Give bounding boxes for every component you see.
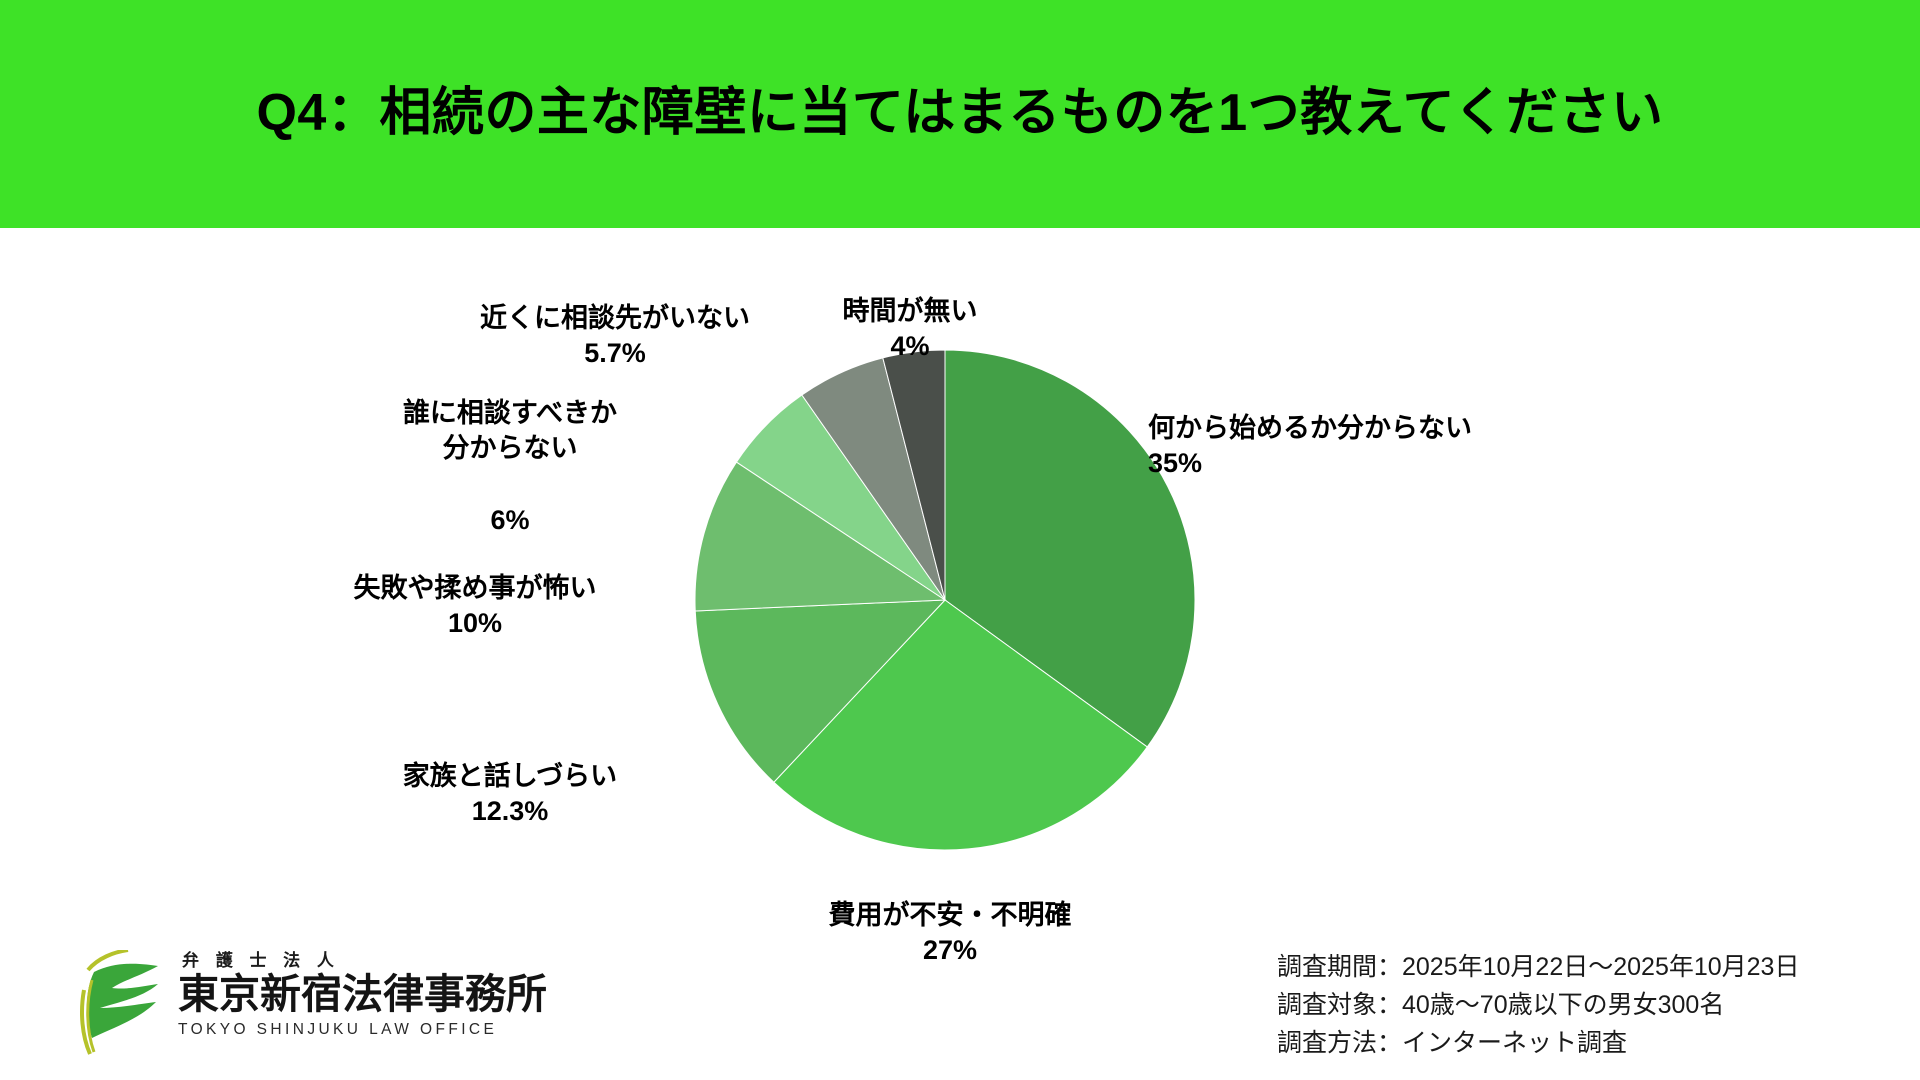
pie-label-value: 12.3%: [330, 794, 690, 830]
pie-label-chikaku-soudansaki: 近くに相談先がいない 5.7%: [430, 265, 800, 408]
company-logo: 弁 護 士 法 人 東京新宿法律事務所 TOKYO SHINJUKU LAW O…: [78, 948, 508, 1058]
logo-name-ja: 東京新宿法律事務所: [178, 972, 508, 1018]
survey-target: 調査対象：40歳〜70歳以下の男女300名: [1277, 986, 1799, 1024]
pie-label-text: 時間が無い: [843, 296, 978, 326]
pie-chart-svg: [695, 350, 1195, 850]
logo-text-block: 弁 護 士 法 人 東京新宿法律事務所 TOKYO SHINJUKU LAW O…: [178, 952, 508, 1039]
survey-period: 調査期間：2025年10月22日〜2025年10月23日: [1277, 948, 1799, 986]
pie-label-hiyou-fuan: 費用が不安・不明確 27%: [790, 862, 1110, 1005]
pie-label-text-line2: 分からない: [330, 431, 690, 467]
page-title: Q4：相続の主な障壁に当てはまるものを1つ教えてください: [256, 85, 1663, 142]
pie-label-value: 4%: [790, 329, 1030, 365]
pie-label-kazoku-hanashizurai: 家族と話しづらい 12.3%: [330, 723, 690, 866]
pie-label-nani-kara-hajimeru: 何から始めるか分からない 35%: [1148, 375, 1548, 518]
pie-label-text: 失敗や揉め事が怖い: [354, 573, 597, 603]
pie-chart: [695, 350, 1195, 850]
survey-note: 調査期間：2025年10月22日〜2025年10月23日 調査対象：40歳〜70…: [1277, 948, 1799, 1062]
pie-label-value: 10%: [290, 606, 660, 642]
pie-label-value: 35%: [1148, 446, 1548, 482]
pie-label-value: 5.7%: [430, 336, 800, 372]
pie-label-text: 家族と話しづらい: [403, 761, 617, 791]
pie-label-value: 27%: [790, 933, 1110, 969]
pie-label-text: 近くに相談先がいない: [480, 303, 750, 333]
logo-leaf-icon: [78, 950, 170, 1056]
pie-slice-group: [695, 350, 1195, 850]
survey-method: 調査方法：インターネット調査: [1277, 1024, 1799, 1062]
slide-canvas: Q4：相続の主な障壁に当てはまるものを1つ教えてください 何から始めるか分からな…: [0, 0, 1920, 1080]
pie-label-text: 費用が不安・不明確: [829, 900, 1072, 930]
pie-label-value: 6%: [330, 503, 690, 539]
logo-name-en: TOKYO SHINJUKU LAW OFFICE: [178, 1021, 508, 1039]
pie-label-jikan-ga-nai: 時間が無い 4%: [790, 258, 1030, 401]
pie-label-text: 何から始めるか分からない: [1148, 413, 1472, 443]
header-banner: Q4：相続の主な障壁に当てはまるものを1つ教えてください: [0, 0, 1920, 228]
logo-kana: 弁 護 士 法 人: [182, 952, 508, 971]
